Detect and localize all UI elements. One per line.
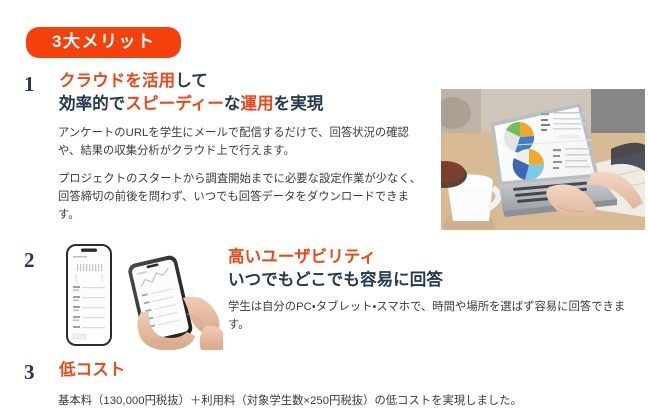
- section-1-paragraph-2: プロジェクトのスタートから調査開始までに必要な設定作業が少なく、回答締切の前後を…: [58, 170, 430, 225]
- section-1-heading-line-2: 効率的でスピーディーな運用を実現: [59, 93, 323, 116]
- section-3-heading: 低コスト: [59, 359, 125, 382]
- heading-2-orange-1: 高いユーザビリティ: [228, 248, 376, 266]
- section-2-heading-line-2: いつでもどこでも容易に回答: [228, 269, 443, 292]
- heading-1-orange-3: 運用: [240, 95, 273, 113]
- heading-1-orange-2: スピーディー: [125, 95, 223, 113]
- benefit-section-3: 3 低コスト 基本料（130,000円税抜）＋利用料（対象学生数×250円税抜）…: [0, 360, 648, 418]
- benefit-section-1: 1 クラウドを活用して 効率的でスピーディーな運用を実現 アンケートのURLを学…: [0, 70, 648, 235]
- section-3-body: 基本料（130,000円税抜）＋利用料（対象学生数×250円税抜）の低コストを実…: [58, 392, 648, 410]
- heading-2-navy-1: いつでもどこでも容易に回答: [228, 271, 443, 289]
- header-badge-wrapper: 3大メリット: [26, 27, 181, 58]
- header-badge: 3大メリット: [26, 27, 181, 58]
- slide-root: 3大メリット 1 クラウドを活用して 効率的でスピーディーな運用を実現 アンケー…: [0, 0, 648, 418]
- heading-3-orange-1: 低コスト: [59, 361, 125, 379]
- heading-1-navy-1: して: [175, 72, 208, 90]
- section-2-body: 学生は自分のPC・タブレット・スマホで、時間や場所を選ばず容易に回答できます。: [228, 298, 638, 335]
- heading-1-orange-1: クラウドを活用: [59, 72, 175, 90]
- heading-1-navy-4: を実現: [274, 95, 324, 113]
- section-2-paragraph-1: 学生は自分のPC・タブレット・スマホで、時間や場所を選ばず容易に回答できます。: [228, 298, 638, 335]
- smartphone-survey-photo: [55, 242, 223, 350]
- laptop-analytics-photo: [441, 89, 645, 230]
- benefit-section-2: 2: [0, 242, 648, 352]
- section-1-paragraph-1: アンケートのURLを学生にメールで配信するだけで、回答状況の確認や、結果の収集分…: [58, 124, 430, 161]
- section-3-number: 3: [24, 362, 35, 383]
- section-1-number: 1: [24, 74, 35, 95]
- section-2-heading-line-1: 高いユーザビリティ: [228, 246, 443, 269]
- section-3-heading-line-1: 低コスト: [59, 359, 125, 382]
- section-2-number: 2: [24, 250, 35, 271]
- section-1-body: アンケートのURLを学生にメールで配信するだけで、回答状況の確認や、結果の収集分…: [58, 124, 430, 224]
- heading-1-navy-3: な: [224, 95, 241, 113]
- heading-1-navy-2: 効率的で: [59, 95, 125, 113]
- section-2-heading: 高いユーザビリティ いつでもどこでも容易に回答: [228, 246, 443, 293]
- section-1-heading-line-1: クラウドを活用して: [59, 70, 323, 93]
- section-3-paragraph-1: 基本料（130,000円税抜）＋利用料（対象学生数×250円税抜）の低コストを実…: [58, 392, 648, 410]
- section-1-heading: クラウドを活用して 効率的でスピーディーな運用を実現: [59, 70, 323, 117]
